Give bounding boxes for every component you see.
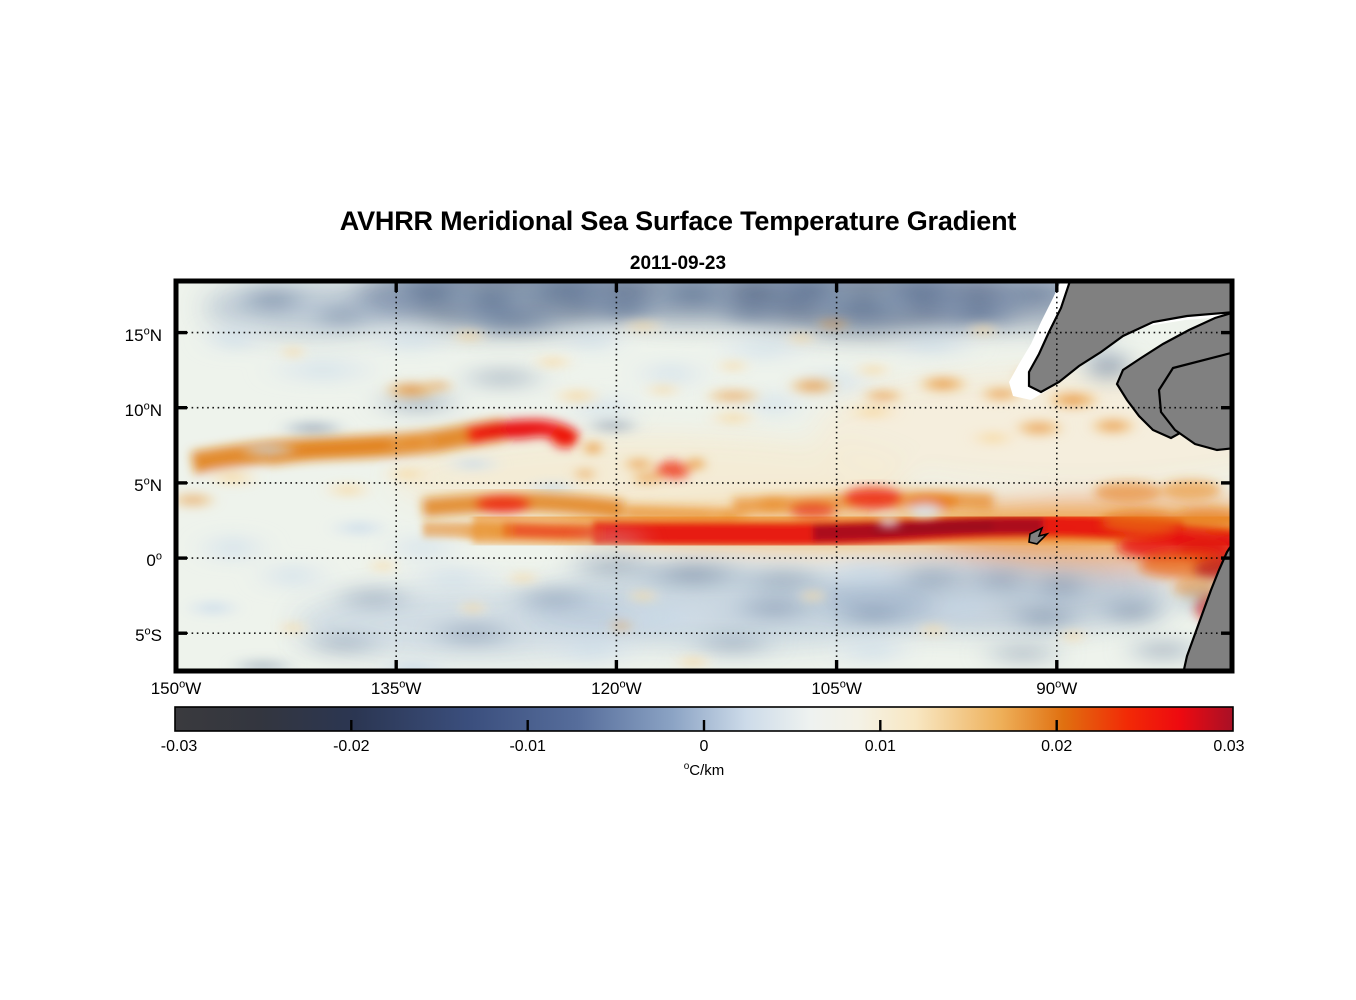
colorbar-tick-label-max: 0.03 [1213, 738, 1244, 756]
y-tick-label-5n: 5oN [78, 476, 162, 496]
figure-subtitle: 2011-09-23 [0, 253, 1356, 275]
colorbar-units-label: oC/km [684, 762, 725, 779]
colorbar-tick-label-n002: -0.02 [333, 738, 369, 756]
figure-title: AVHRR Meridional Sea Surface Temperature… [0, 206, 1356, 237]
colorbar-tick-label-p001: 0.01 [865, 738, 896, 756]
y-tick-label-5s: 5oS [78, 626, 162, 646]
colorbar-tick-label-p002: 0.02 [1041, 738, 1072, 756]
sst-gradient-map [173, 278, 1235, 674]
x-tick-label-135w: 135oW [371, 679, 422, 699]
y-tick-label-15n: 15oN [78, 326, 162, 346]
figure-canvas: AVHRR Meridional Sea Surface Temperature… [0, 0, 1356, 1000]
x-tick-label-105w: 105oW [811, 679, 862, 699]
colorbar-tick-label-n001: -0.01 [509, 738, 545, 756]
x-tick-label-90w: 90oW [1036, 679, 1077, 699]
colorbar-tick-label-zero: 0 [700, 738, 709, 756]
colorbar-tick-label-min: -0.03 [161, 738, 197, 756]
y-tick-label-10n: 10oN [78, 401, 162, 421]
x-tick-label-150w: 150oW [151, 679, 202, 699]
y-tick-label-0: 0o [78, 551, 162, 571]
colorbar [171, 703, 1237, 743]
x-tick-label-120w: 120oW [591, 679, 642, 699]
